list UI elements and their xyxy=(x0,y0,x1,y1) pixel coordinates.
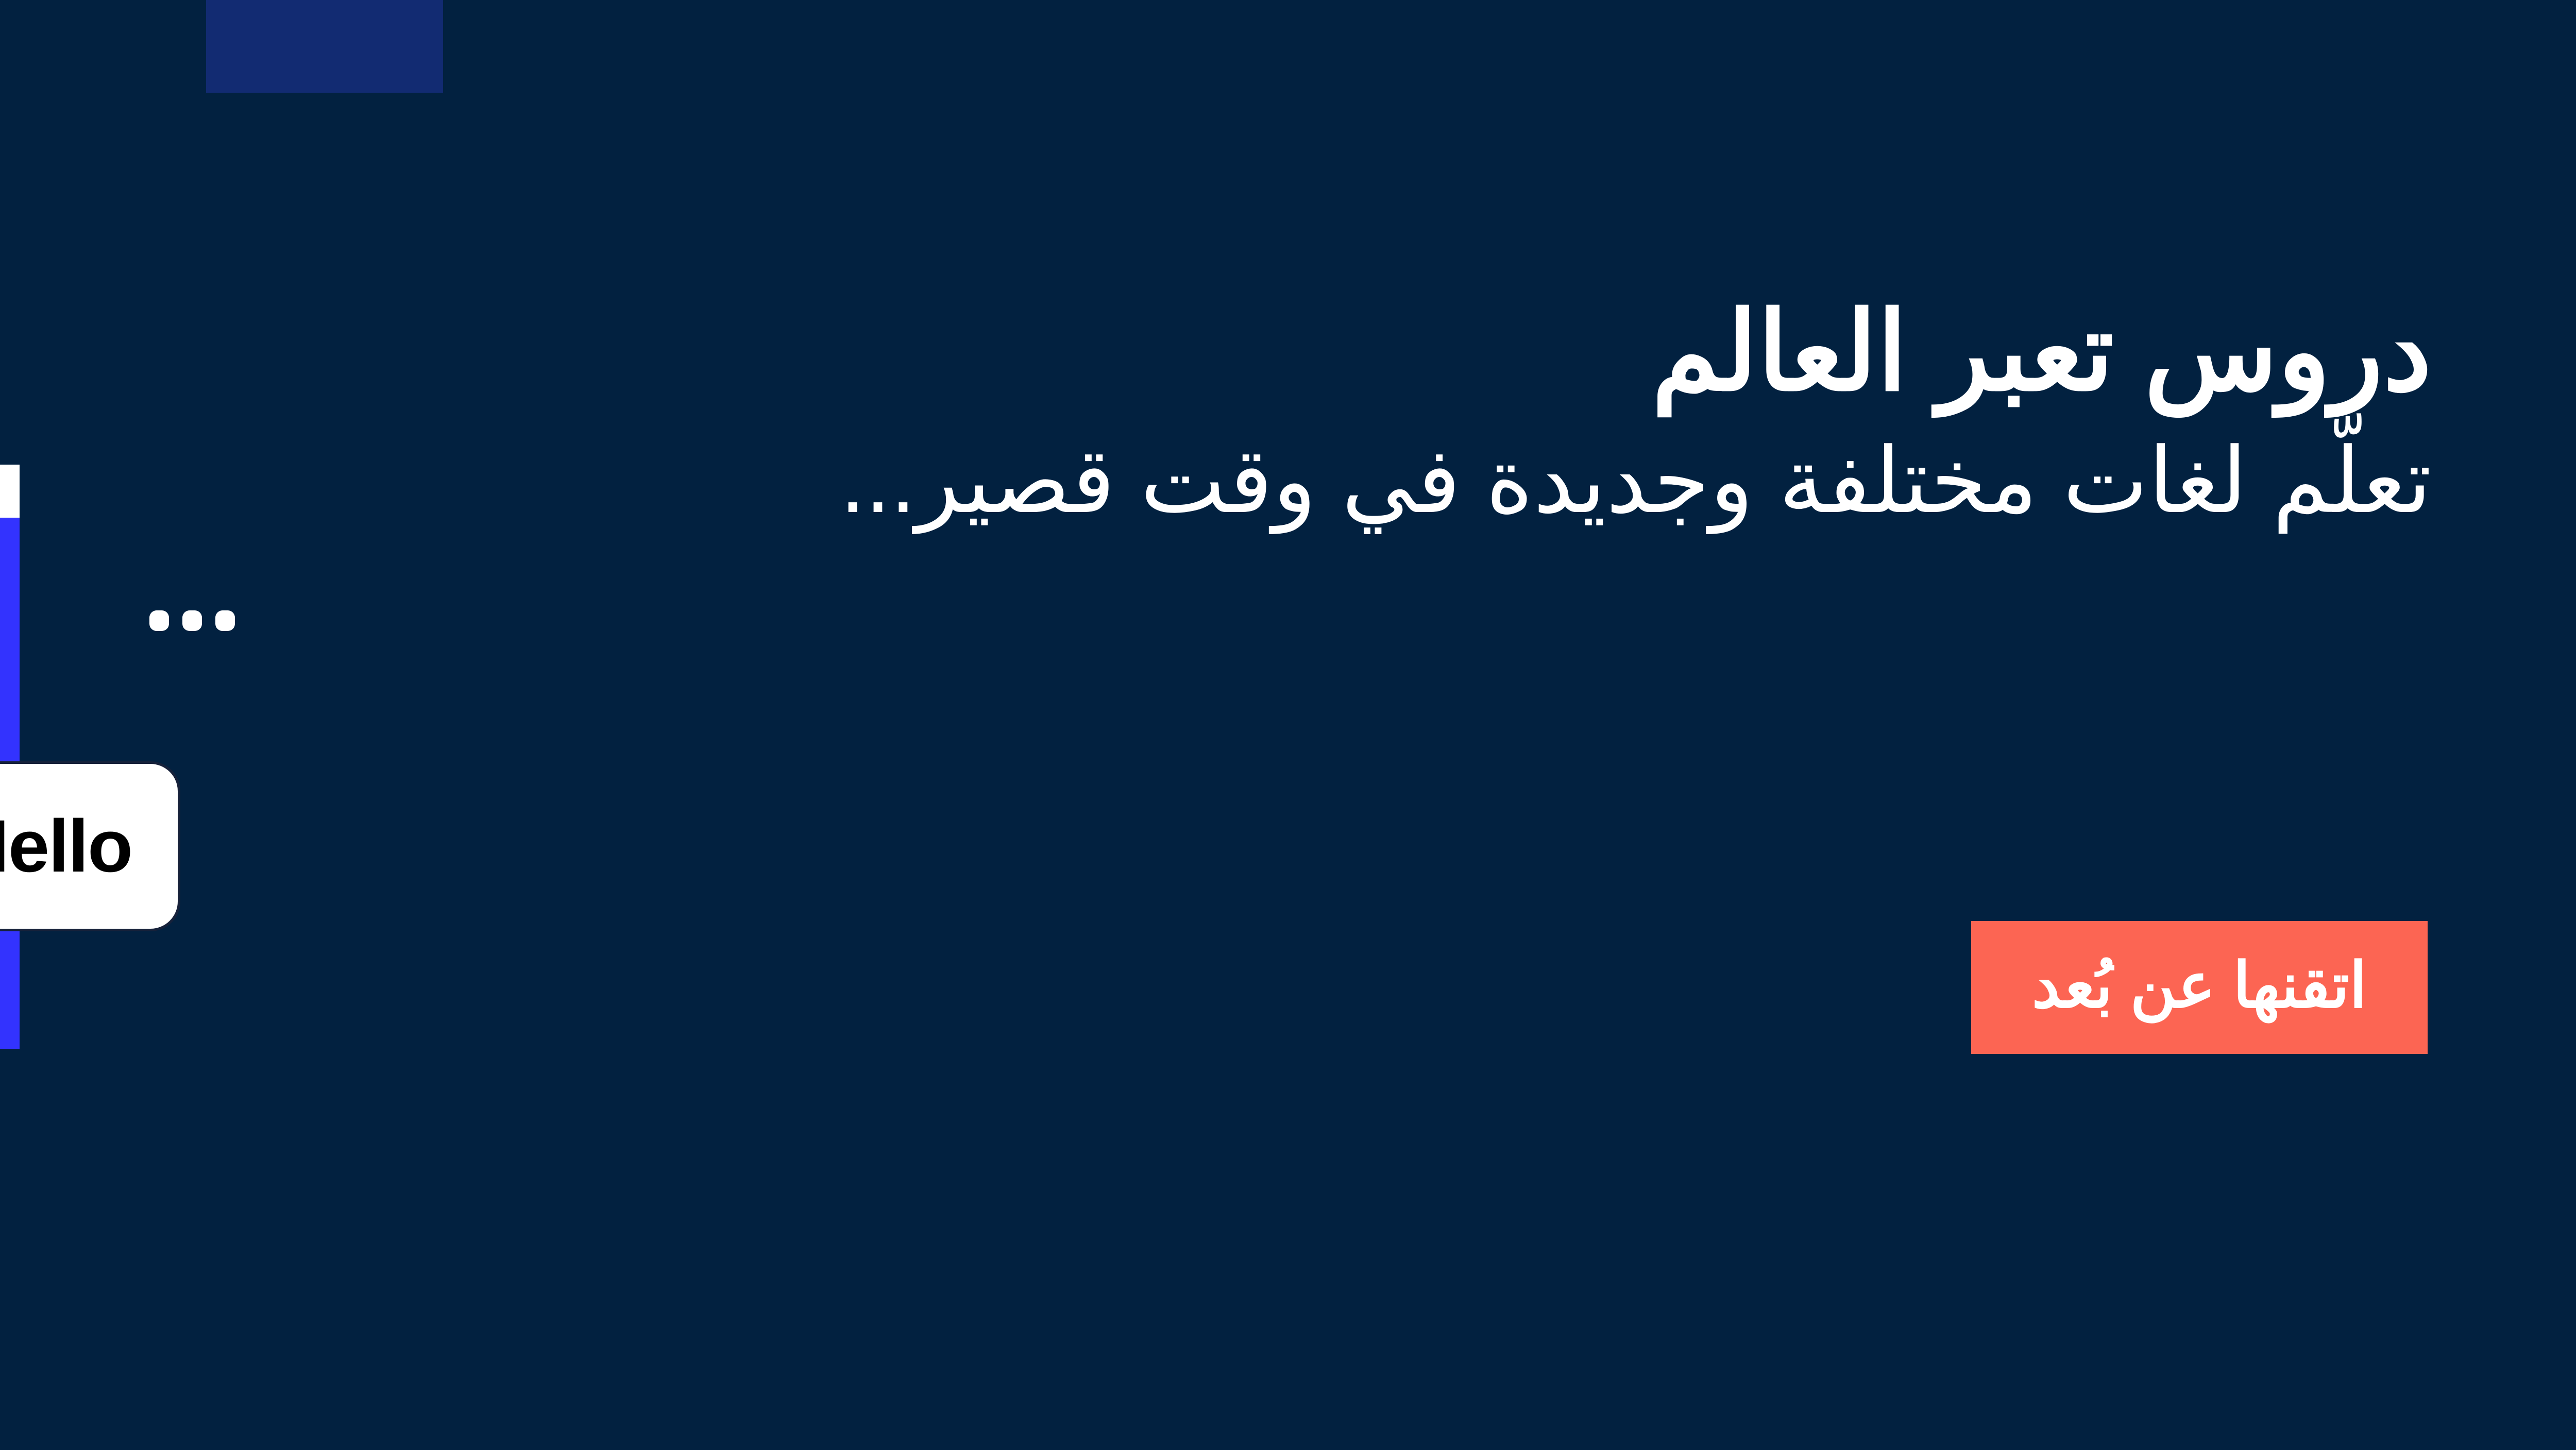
typing-indicator-icon xyxy=(149,610,235,631)
typing-dot-icon xyxy=(182,610,202,631)
copy-block: دروس تعبر العالم تعلّم لغات مختلفة وجديد… xyxy=(577,288,2432,540)
subheadline: تعلّم لغات مختلفة وجديدة في وقت قصير... xyxy=(577,422,2432,540)
background-rect-right xyxy=(206,0,443,93)
bubble-text-hello: Hello xyxy=(0,804,132,889)
speech-bubble-hello: Hello xyxy=(0,761,180,931)
typing-dot-icon xyxy=(149,610,169,631)
cta-button[interactable]: اتقنها عن بُعد xyxy=(1971,921,2428,1054)
language-learning-banner: Bienvenidos Hello دروس تعبر العالم تعلّم… xyxy=(0,0,2576,1450)
blue-window-titlebar xyxy=(0,465,20,518)
typing-dot-icon xyxy=(215,610,235,631)
headline: دروس تعبر العالم xyxy=(577,288,2432,415)
